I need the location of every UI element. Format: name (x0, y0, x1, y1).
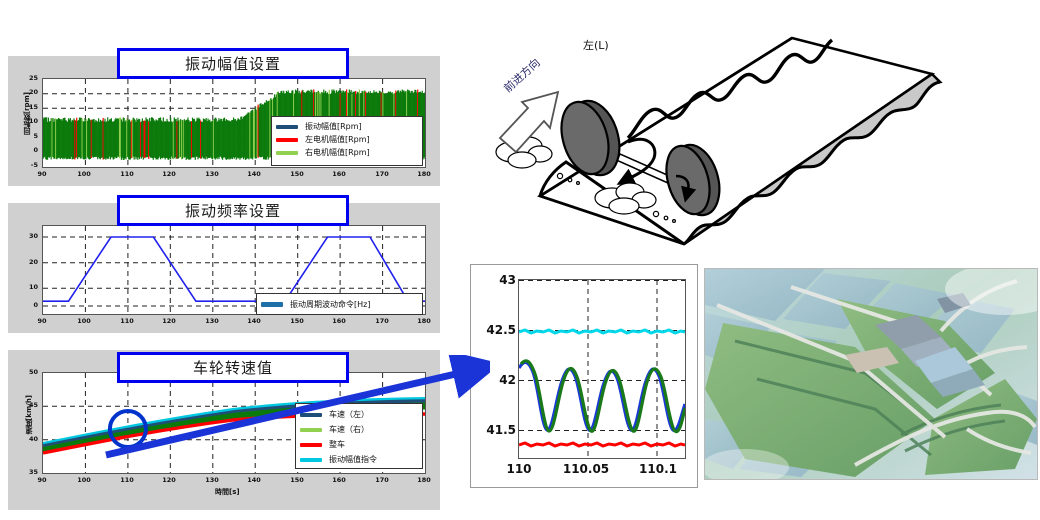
inset-trace-vehicle (519, 443, 685, 446)
chart-title-text: 振动幅值设置 (185, 53, 281, 74)
washboard-road-diagram (462, 0, 1040, 262)
legend-swatch-speed-right (300, 428, 322, 432)
plot-area-zoom-inset (518, 279, 686, 459)
legend-wheel-speed: 车速（左） 车速（右） 整车 振动幅值指令 (295, 403, 423, 469)
chart-title-box-wheel-speed: 车轮转速值 (117, 352, 349, 383)
legend-label: 车速（左） (329, 409, 369, 420)
legend-vibration-amplitude: 振动幅值[Rpm] 左电机幅值[Rpm] 右电机幅值[Rpm] (271, 116, 423, 166)
legend-label: 振动周期波动命令[Hz] (290, 299, 370, 310)
inset-trace-right (521, 361, 685, 432)
legend-vibration-frequency: 振动周期波动命令[Hz] (256, 293, 423, 315)
legend-swatch-right-motor (276, 151, 298, 155)
legend-label: 右电机幅值[Rpm] (305, 147, 370, 158)
chart1-y-axis-label: 回転数[rpm] (22, 92, 32, 135)
zoom-inset-svg (519, 280, 685, 458)
legend-item: 振动周期波动命令[Hz] (261, 297, 370, 311)
legend-swatch-frequency-command (261, 302, 283, 307)
legend-item: 车速（右） (300, 422, 417, 437)
legend-label: 左电机幅值[Rpm] (305, 134, 370, 145)
legend-item: 振动幅值指令 (300, 452, 417, 467)
chart-title-box-vibration-frequency: 振动频率设置 (117, 195, 349, 226)
legend-swatch-vibration-amplitude (276, 125, 298, 129)
legend-swatch-vehicle (300, 443, 322, 447)
legend-label: 振动幅值[Rpm] (305, 121, 362, 132)
legend-swatch-left-motor (276, 138, 298, 142)
legend-item: 车速（左） (300, 407, 417, 422)
proving-ground-aerial-photo (704, 268, 1038, 480)
chart3-x-axis-label: 時間[s] (215, 487, 240, 497)
chart-title-text: 振动频率设置 (185, 200, 281, 221)
chart-title-box-vibration-amplitude: 振动幅值设置 (117, 48, 349, 79)
legend-item: 左电机幅值[Rpm] (276, 133, 417, 146)
legend-item: 振动幅值[Rpm] (276, 120, 417, 133)
diagram-label-side: 左(L) (583, 37, 609, 53)
legend-label: 振动幅值指令 (329, 454, 377, 465)
legend-item: 右电机幅值[Rpm] (276, 146, 417, 159)
legend-label: 整车 (329, 439, 345, 450)
legend-swatch-amplitude-command (300, 458, 322, 462)
chart-title-text: 车轮转速值 (193, 357, 273, 378)
legend-swatch-speed-left (300, 413, 322, 417)
frequency-command-trace (43, 237, 425, 301)
legend-item: 整车 (300, 437, 417, 452)
legend-label: 车速（右） (329, 424, 369, 435)
